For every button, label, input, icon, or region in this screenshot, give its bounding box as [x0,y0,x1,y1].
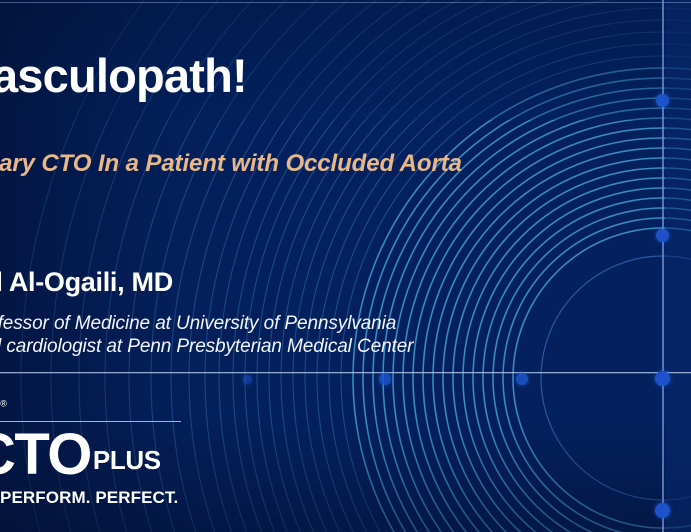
axis-dot [655,503,670,518]
axis-dot [379,373,391,385]
presentation-title-slide: Vasculopath! ble Coronary CTO In a Patie… [0,0,691,532]
presenter-name: med Al-Ogaili, MD [0,267,173,298]
logo-secondary-text: PLUS [91,445,161,481]
axis-dot [516,373,528,385]
axis-dot [656,229,669,242]
logo-tagline: N. PERFORM. PERFECT. [0,488,178,508]
axis-dot [656,94,669,107]
axis-dot [655,371,670,386]
horizontal-axis-line [0,372,691,373]
presenter-affiliation-line-2: ventional cardiologist at Penn Presbyter… [0,336,413,358]
top-hairline [0,2,691,3]
slide-subtitle: ble Coronary CTO In a Patient with Occlu… [0,150,462,178]
registered-mark-icon: ® [0,398,7,408]
logo-wordmark-row: CTO PLUS [0,428,161,481]
vertical-axis-line [662,0,664,532]
slide-title: Vasculopath! [0,48,247,103]
right-edge-panel [665,0,691,532]
axis-dot [243,375,252,384]
logo-primary-text: CTO [0,428,91,481]
presenter-affiliation-line-1: tant professor of Medicine at University… [0,313,396,335]
cto-plus-logo: F® CTO PLUS N. PERFORM. PERFECT. [0,392,210,532]
